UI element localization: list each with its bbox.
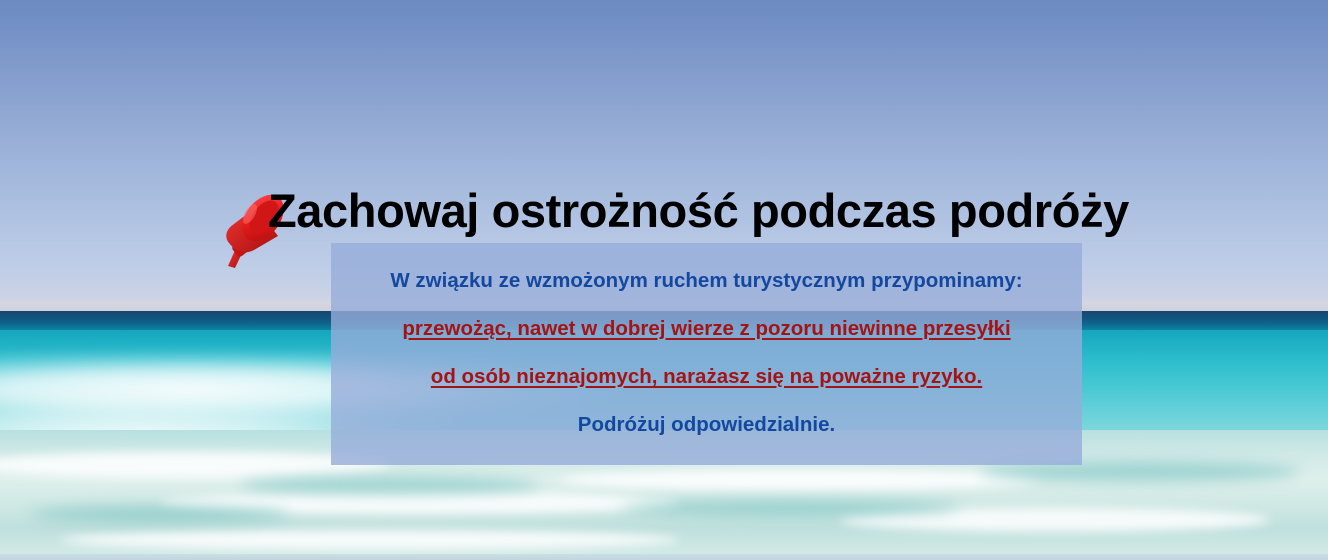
message-panel: W związku ze wzmożonym ruchem turystyczn… xyxy=(331,243,1082,465)
surf-shadow xyxy=(30,506,290,522)
page-title: Zachowaj ostrożność podczas podróży xyxy=(268,186,1108,237)
message-line-2: przewożąc, nawet w dobrej wierze z pozor… xyxy=(331,305,1082,353)
message-line-4: Podróżuj odpowiedzialnie. xyxy=(331,401,1082,449)
surf-shadow xyxy=(240,476,540,494)
surf-shadow xyxy=(620,500,960,516)
surf-streak xyxy=(560,470,1040,490)
travel-safety-banner: Zachowaj ostrożność podczas podróży W zw… xyxy=(0,0,1328,560)
surf-streak xyxy=(60,530,680,550)
photo-bottom-edge xyxy=(0,554,1328,560)
surf-shadow xyxy=(980,462,1300,482)
message-line-1: W związku ze wzmożonym ruchem turystyczn… xyxy=(331,257,1082,305)
message-line-3: od osób nieznajomych, narażasz się na po… xyxy=(331,353,1082,401)
